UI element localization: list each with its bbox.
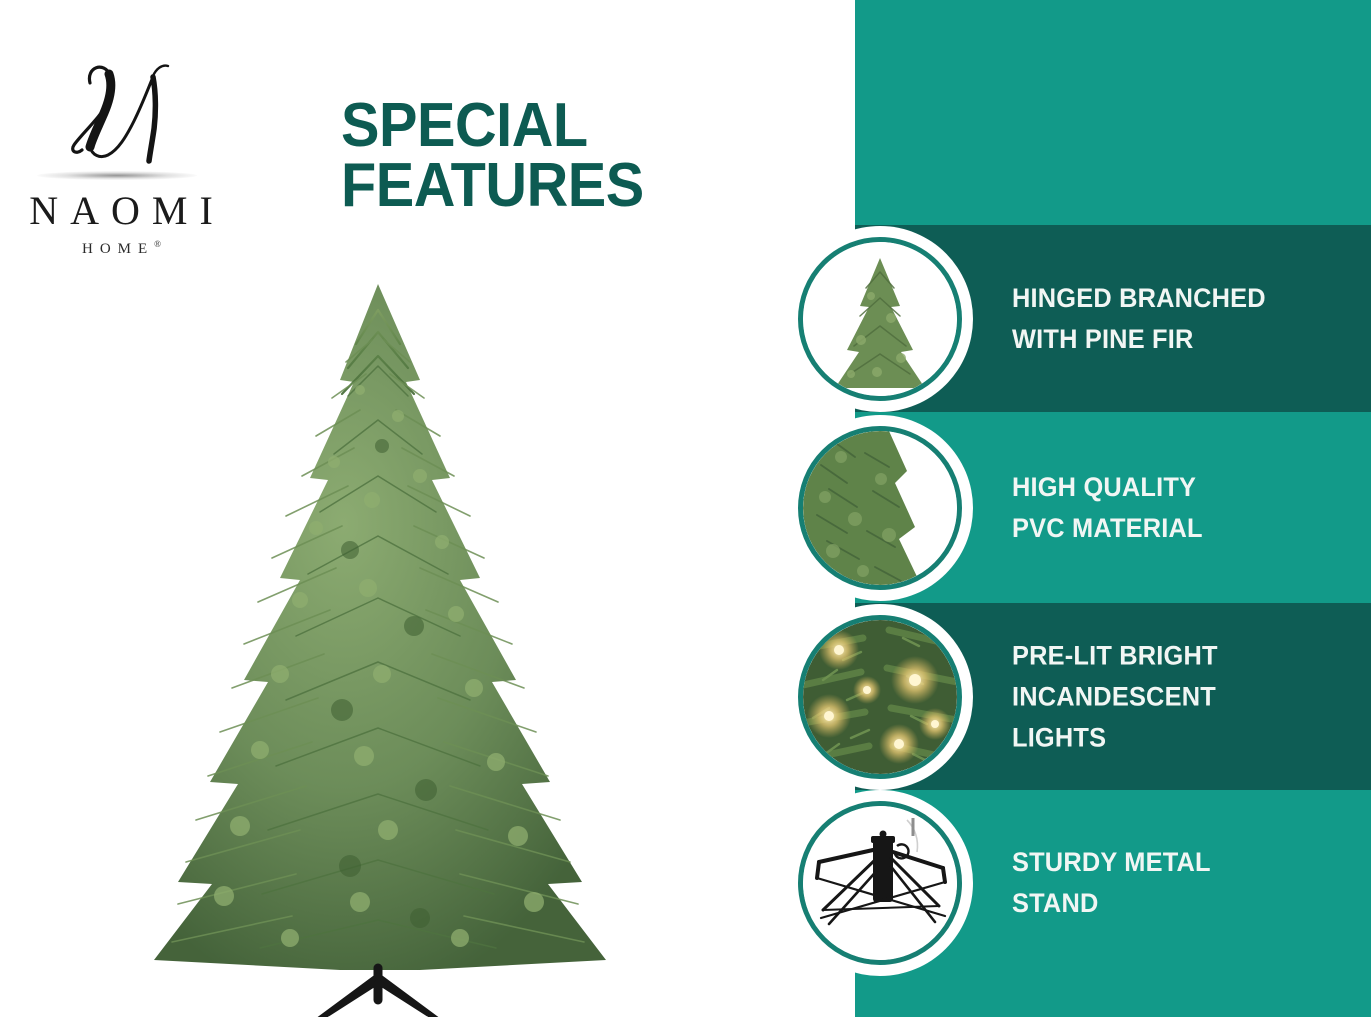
feature-panel: HINGED BRANCHED WITH PINE FIR (855, 0, 1371, 1017)
feature-thumbnail (787, 226, 973, 412)
feature-item-pre-lit-lights[interactable]: PRE-LIT BRIGHT INCANDESCENT LIGHTS (855, 603, 1371, 790)
feature-item-hinged-branched[interactable]: HINGED BRANCHED WITH PINE FIR (855, 225, 1371, 412)
tree-stand-legs (270, 968, 486, 1017)
panel-band-top (855, 0, 1371, 225)
branch-closeup-thumb-icon (803, 431, 957, 585)
brand-sub-text: HOME (82, 241, 154, 257)
page-title: SPECIAL FEATURES (341, 96, 778, 215)
product-image (120, 270, 640, 1017)
page-title-line1: SPECIAL (341, 91, 588, 160)
feature-label: HIGH QUALITY PVC MATERIAL (1012, 467, 1357, 549)
trademark-symbol: ® (154, 239, 168, 249)
infographic-canvas: NAOMI HOME® SPECIAL FEATURES (0, 0, 1371, 1017)
script-n-monogram-icon (52, 55, 202, 175)
christmas-tree-illustration (120, 270, 640, 1017)
brand-subtitle: HOME® (0, 239, 268, 258)
feature-label-line: STAND (1012, 883, 1336, 924)
feature-item-pvc-material[interactable]: HIGH QUALITY PVC MATERIAL (855, 412, 1371, 603)
feature-label-line: LIGHTS (1012, 717, 1336, 758)
feature-label-line: HIGH QUALITY (1012, 467, 1336, 508)
logo-shadow (37, 171, 197, 180)
feature-thumbnail (787, 604, 973, 790)
page-title-line2: FEATURES (341, 156, 778, 216)
feature-thumbnail (787, 415, 973, 601)
metal-stand-thumb-icon (803, 806, 957, 960)
feature-label: STURDY METAL STAND (1012, 842, 1357, 924)
feature-thumbnail (787, 790, 973, 976)
feature-label-line: PVC MATERIAL (1012, 508, 1336, 549)
feature-label-line: INCANDESCENT (1012, 676, 1336, 717)
lit-branches-thumb-icon (803, 620, 957, 774)
feature-label: PRE-LIT BRIGHT INCANDESCENT LIGHTS (1012, 635, 1357, 758)
tree-full-thumb-icon (803, 242, 957, 396)
brand-logo: NAOMI HOME® (0, 55, 272, 260)
feature-label-line: WITH PINE FIR (1012, 319, 1336, 360)
feature-label-line: HINGED BRANCHED (1012, 278, 1336, 319)
brand-name: NAOMI (0, 187, 272, 234)
feature-item-metal-stand[interactable]: STURDY METAL STAND (855, 790, 1371, 1017)
feature-label-line: PRE-LIT BRIGHT (1012, 635, 1336, 676)
feature-label: HINGED BRANCHED WITH PINE FIR (1012, 278, 1357, 360)
feature-label-line: STURDY METAL (1012, 842, 1336, 883)
